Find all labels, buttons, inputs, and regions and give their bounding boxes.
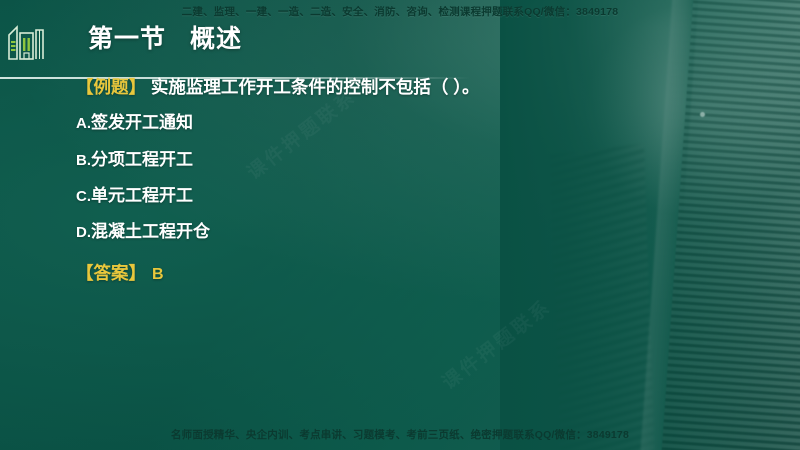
main-tower-shape [661,0,800,450]
top-promo-banner: 二建、监理、一建、一造、二造、安全、消防、咨询、检测课程押题联系QQ/微信：38… [0,4,800,19]
option-b[interactable]: B.分项工程开工 [76,147,620,173]
option-a-letter: A. [76,115,91,132]
answer-value: B [152,266,164,283]
question-line: 【例题】 实施监理工作开工条件的控制不包括（ ）。 [76,74,620,100]
answer-tag: 【答案】 [76,263,146,283]
question-tag: 【例题】 [76,77,146,97]
watermark-text-secondary: 课件押题联系 [436,292,557,395]
option-c[interactable]: C.单元工程开工 [76,183,620,209]
slide-canvas: 课件押题联系 课件押题联系 二建、监理、一建、一造、二造、安全、消防、咨询、检测… [0,0,800,450]
option-a-text: 签发开工通知 [91,113,193,132]
section-label: 第一节 [88,25,166,53]
option-d[interactable]: D.混凝土工程开仓 [76,219,620,245]
slide-content: 【例题】 实施监理工作开工条件的控制不包括（ ）。 A.签发开工通知 B.分项工… [0,66,620,285]
slide-header: 第一节概述 [0,20,800,60]
option-b-text: 分项工程开工 [91,150,193,169]
page-title: 第一节概述 [88,19,242,55]
bottom-promo-banner: 名师面授精华、央企内训、考点串讲、习题模考、考前三页纸、绝密押题联系QQ/微信：… [0,427,800,442]
lens-flare-dot [700,112,705,117]
option-c-letter: C. [76,188,91,205]
answer-line: 【答案】B [76,260,620,285]
building-icon [6,22,50,60]
tower-edge-shape [639,0,700,450]
question-text: 实施监理工作开工条件的控制不包括（ ）。 [151,77,480,97]
option-c-text: 单元工程开工 [91,186,193,205]
section-title-text: 概述 [190,25,242,53]
option-a[interactable]: A.签发开工通知 [76,110,620,136]
option-d-letter: D. [76,224,91,241]
option-d-text: 混凝土工程开仓 [91,222,210,241]
option-b-letter: B. [76,152,91,169]
